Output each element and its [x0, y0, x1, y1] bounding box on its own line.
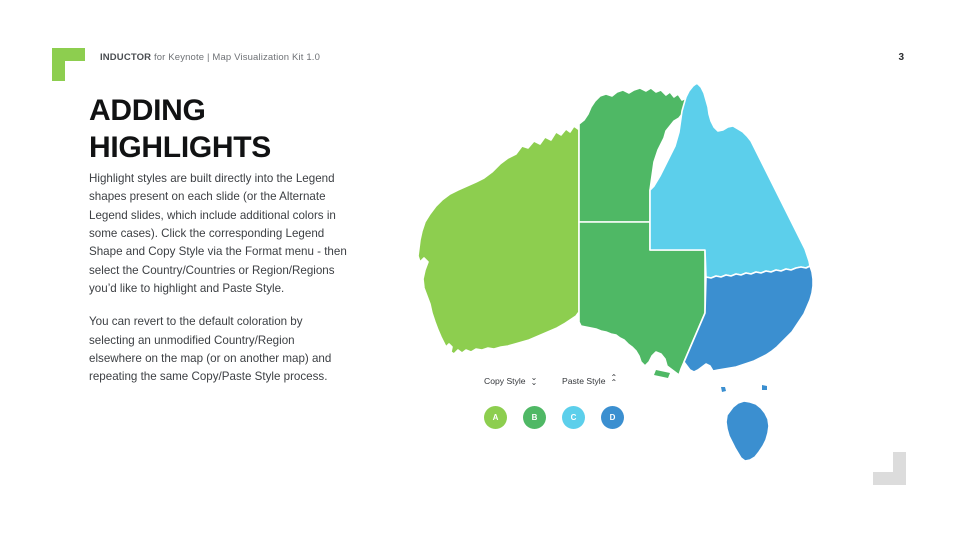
page-title: ADDING HIGHLIGHTS	[89, 93, 419, 166]
chevron-down-icon-bottom: ⌄	[531, 381, 538, 386]
double-chevron-up-icon: ⌃ ⌃	[610, 376, 617, 386]
legend-copy-style[interactable]: Copy Style ⌄ ⌄	[484, 376, 562, 386]
logo-horizontal-bar	[52, 48, 85, 61]
page-number: 3	[898, 52, 904, 63]
double-chevron-down-icon: ⌄ ⌄	[531, 376, 538, 386]
legend-swatch-d[interactable]: D	[601, 406, 624, 429]
page-title-line-2: HIGHLIGHTS	[89, 130, 419, 167]
legend-paste-style[interactable]: Paste Style ⌃ ⌃	[562, 376, 617, 386]
legend-swatch-a[interactable]: A	[484, 406, 507, 429]
legend-headings: Copy Style ⌄ ⌄ Paste Style ⌃ ⌃	[484, 376, 644, 386]
page-title-line-1: ADDING	[89, 93, 419, 130]
island-bass-strait-2	[762, 385, 767, 390]
header-kit-label: INDUCTOR for Keynote | Map Visualization…	[100, 52, 320, 63]
body-paragraph-2: You can revert to the default coloration…	[89, 313, 347, 386]
decor-horizontal-bar	[873, 472, 906, 485]
legend-swatches: A B C D	[484, 406, 644, 429]
corner-bracket-logo-icon	[52, 48, 85, 81]
legend: Copy Style ⌄ ⌄ Paste Style ⌃ ⌃ A B C D	[484, 376, 644, 429]
body-copy: Highlight styles are built directly into…	[89, 170, 347, 386]
header-subtitle: for Keynote | Map Visualization Kit 1.0	[151, 52, 320, 63]
legend-paste-style-label: Paste Style	[562, 376, 605, 386]
header-brand: INDUCTOR	[100, 52, 151, 63]
legend-copy-style-label: Copy Style	[484, 376, 526, 386]
chevron-up-icon-bottom: ⌃	[610, 381, 617, 386]
legend-swatch-c[interactable]: C	[562, 406, 585, 429]
island-bass-strait-1	[721, 387, 726, 392]
body-paragraph-1: Highlight styles are built directly into…	[89, 170, 347, 298]
legend-swatch-b[interactable]: B	[523, 406, 546, 429]
corner-bracket-decor-icon	[873, 452, 906, 485]
region-tasmania[interactable]	[726, 401, 769, 461]
island-kangaroo	[654, 370, 670, 378]
slide-canvas: INDUCTOR for Keynote | Map Visualization…	[0, 0, 960, 540]
region-western-australia[interactable]	[418, 124, 581, 354]
